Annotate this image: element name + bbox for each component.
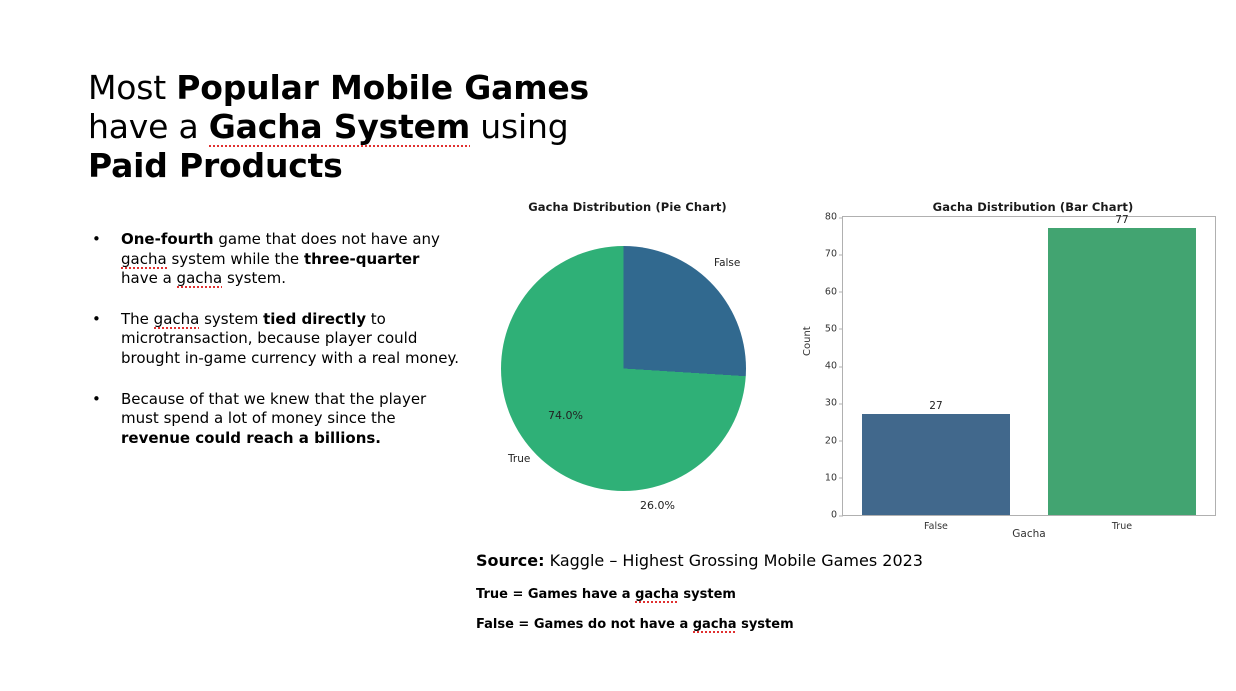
bullet-1-part-0: One-fourth — [121, 230, 214, 248]
bullet-2-part-1: gacha — [154, 310, 200, 329]
bullet-1-part-6: gacha — [177, 269, 223, 288]
note-false-b: system — [737, 617, 794, 632]
bullet-2-part-3: tied directly — [263, 310, 366, 328]
page-title-line-1: Most Popular Mobile Games — [88, 68, 648, 107]
source-text: Kaggle – Highest Grossing Mobile Games 2… — [545, 551, 923, 570]
bar-chart-ytick: 0 — [831, 510, 843, 521]
bullet-3-part-1: revenue could reach a billions. — [121, 429, 381, 447]
source-line: Source: Kaggle – Highest Grossing Mobile… — [476, 551, 923, 570]
list-item: • One-fourth game that does not have any… — [88, 230, 441, 289]
list-item-text: One-fourth game that does not have any g… — [121, 230, 440, 288]
page-title-line-2-bold: Gacha System — [209, 107, 470, 147]
bar-chart-ytick: 30 — [825, 398, 843, 409]
bar-chart-ytick: 10 — [825, 472, 843, 483]
list-item-text: Because of that we knew that the player … — [121, 390, 426, 447]
list-item: • The gacha system tied directly to micr… — [88, 310, 461, 369]
bar-chart-ytick: 20 — [825, 435, 843, 446]
bar-value-label: 77 — [1048, 214, 1197, 226]
page-title-line-3: Paid Products — [88, 146, 648, 185]
bullet-marker-icon: • — [92, 310, 101, 330]
bullet-1-part-5: have a — [121, 269, 177, 287]
bar-chart-ytick: 50 — [825, 323, 843, 334]
note-true-squiggle: gacha — [635, 587, 679, 603]
legend-note-true: True = Games have a gacha system — [476, 587, 736, 602]
bullet-3-part-0: Because of that we knew that the player … — [121, 390, 426, 428]
bullet-2-part-0: The — [121, 310, 154, 328]
bullet-1-part-3: system while the — [167, 250, 304, 268]
bar-chart-ytick: 70 — [825, 249, 843, 260]
note-false-squiggle: gacha — [693, 617, 737, 633]
bullet-list: • One-fourth game that does not have any… — [88, 230, 448, 466]
bar-rect — [1048, 228, 1197, 515]
note-false-a: False = Games do not have a — [476, 617, 693, 632]
page-title-line-2-tail: using — [470, 107, 568, 146]
bullet-1-part-4: three-quarter — [304, 250, 420, 268]
page-title-line-2-plain: have a — [88, 107, 209, 146]
bullet-1-part-1: game that does not have any — [214, 230, 440, 248]
pie-chart-disc — [501, 246, 746, 491]
bar-rect — [862, 414, 1011, 515]
list-item: • Because of that we knew that the playe… — [88, 390, 461, 449]
bullet-marker-icon: • — [92, 230, 101, 250]
bar-chart-bar-false[interactable]: 27False — [862, 217, 1011, 515]
bar-chart-ytick: 40 — [825, 361, 843, 372]
bullet-1-part-2: gacha — [121, 250, 167, 269]
page-title-line-1-bold: Popular Mobile Games — [176, 68, 589, 107]
pie-category-label-false: False — [714, 257, 740, 269]
bullet-1-part-7: system. — [222, 269, 286, 287]
pie-slice-label-false: 26.0% — [640, 499, 675, 512]
page-title-line-3-bold: Paid Products — [88, 146, 343, 185]
bar-chart-plot-area: 01020304050607080 27False77True — [842, 216, 1216, 516]
bar-value-label: 27 — [862, 400, 1011, 412]
bar-chart-ytick: 80 — [825, 212, 843, 223]
legend-note-false-text: False = Games do not have a gacha system — [476, 617, 794, 633]
bar-chart-ytick: 60 — [825, 286, 843, 297]
pie-slice-label-true: 74.0% — [548, 409, 583, 422]
bar-chart-ylabel: Count — [802, 326, 813, 356]
bullet-marker-icon: • — [92, 390, 101, 410]
list-item-text: The gacha system tied directly to microt… — [121, 310, 459, 367]
bar-chart-xlabel: Gacha — [842, 528, 1216, 540]
bar-chart-figure: Gacha Distribution (Bar Chart) Count 010… — [808, 196, 1236, 546]
page-title-line-2: have a Gacha System using — [88, 107, 648, 146]
legend-note-true-text: True = Games have a gacha system — [476, 587, 736, 603]
pie-chart-figure: Gacha Distribution (Pie Chart) 26.0% 74.… — [470, 196, 785, 516]
bar-chart-bar-true[interactable]: 77True — [1048, 217, 1197, 515]
bar-chart-title: Gacha Distribution (Bar Chart) — [838, 200, 1228, 214]
source-label: Source: — [476, 551, 545, 570]
note-true-b: system — [679, 587, 736, 602]
pie-chart-title: Gacha Distribution (Pie Chart) — [470, 200, 785, 214]
page-title-line-1-plain: Most — [88, 68, 176, 107]
pie-category-label-true: True — [508, 453, 530, 465]
note-true-a: True = Games have a — [476, 587, 635, 602]
bullet-2-part-2: system — [199, 310, 263, 328]
page-title: Most Popular Mobile Games have a Gacha S… — [88, 68, 648, 185]
legend-note-false: False = Games do not have a gacha system — [476, 617, 794, 632]
